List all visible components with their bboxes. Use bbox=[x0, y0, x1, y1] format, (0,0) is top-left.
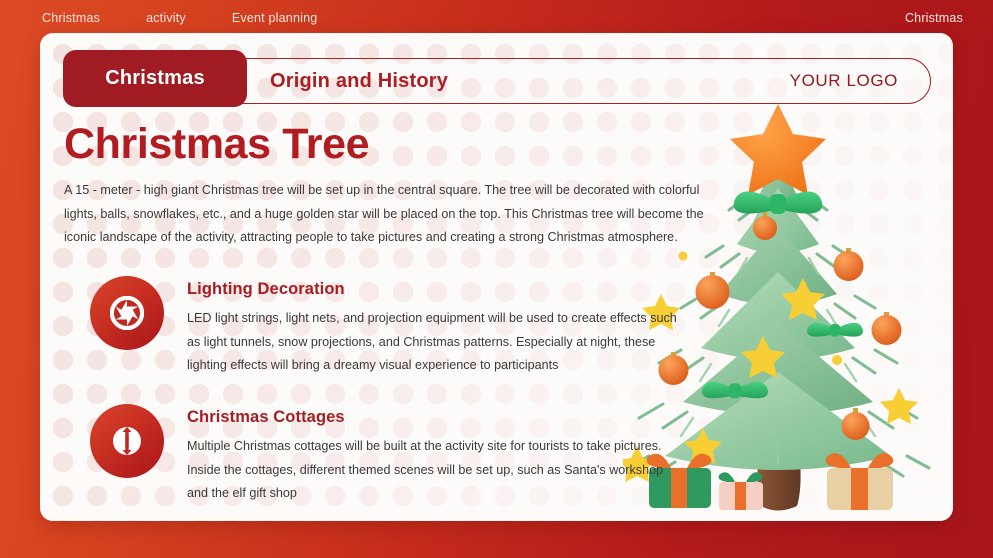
transfer-arrows-icon bbox=[90, 404, 164, 478]
feature-title: Lighting Decoration bbox=[187, 280, 677, 299]
aperture-icon bbox=[90, 276, 164, 350]
nav-item-christmas[interactable]: Christmas bbox=[42, 11, 100, 25]
top-nav-links: Christmas activity Event planning bbox=[42, 11, 317, 25]
page-title: Christmas Tree bbox=[64, 121, 754, 167]
gift-box bbox=[826, 453, 894, 510]
intro-paragraph: A 15 - meter - high giant Christmas tree… bbox=[64, 179, 732, 249]
feature-christmas-cottages: Christmas Cottages Multiple Christmas co… bbox=[64, 404, 754, 505]
feature-body: Christmas Cottages Multiple Christmas co… bbox=[187, 404, 677, 505]
nav-item-event-planning[interactable]: Event planning bbox=[232, 11, 318, 25]
nav-item-activity[interactable]: activity bbox=[146, 11, 186, 25]
feature-title: Christmas Cottages bbox=[187, 408, 677, 427]
tab-bar: Christmas Origin and History YOUR LOGO bbox=[63, 58, 931, 104]
nav-item-christmas-right[interactable]: Christmas bbox=[905, 11, 963, 25]
tab-christmas[interactable]: Christmas bbox=[63, 50, 247, 107]
tree-bow bbox=[807, 323, 863, 337]
content-card: Christmas Origin and History YOUR LOGO bbox=[40, 33, 953, 521]
logo-placeholder: YOUR LOGO bbox=[790, 71, 898, 91]
feature-text: Multiple Christmas cottages will be buil… bbox=[187, 435, 677, 505]
top-navigation-bar: Christmas activity Event planning Christ… bbox=[0, 0, 993, 36]
main-content: Christmas Tree A 15 - meter - high giant… bbox=[64, 121, 754, 505]
feature-text: LED light strings, light nets, and proje… bbox=[187, 307, 677, 377]
top-nav-right: Christmas bbox=[905, 9, 963, 27]
feature-lighting-decoration: Lighting Decoration LED light strings, l… bbox=[64, 276, 754, 377]
feature-body: Lighting Decoration LED light strings, l… bbox=[187, 276, 677, 377]
tab-origin-and-history[interactable]: Origin and History bbox=[270, 70, 448, 93]
